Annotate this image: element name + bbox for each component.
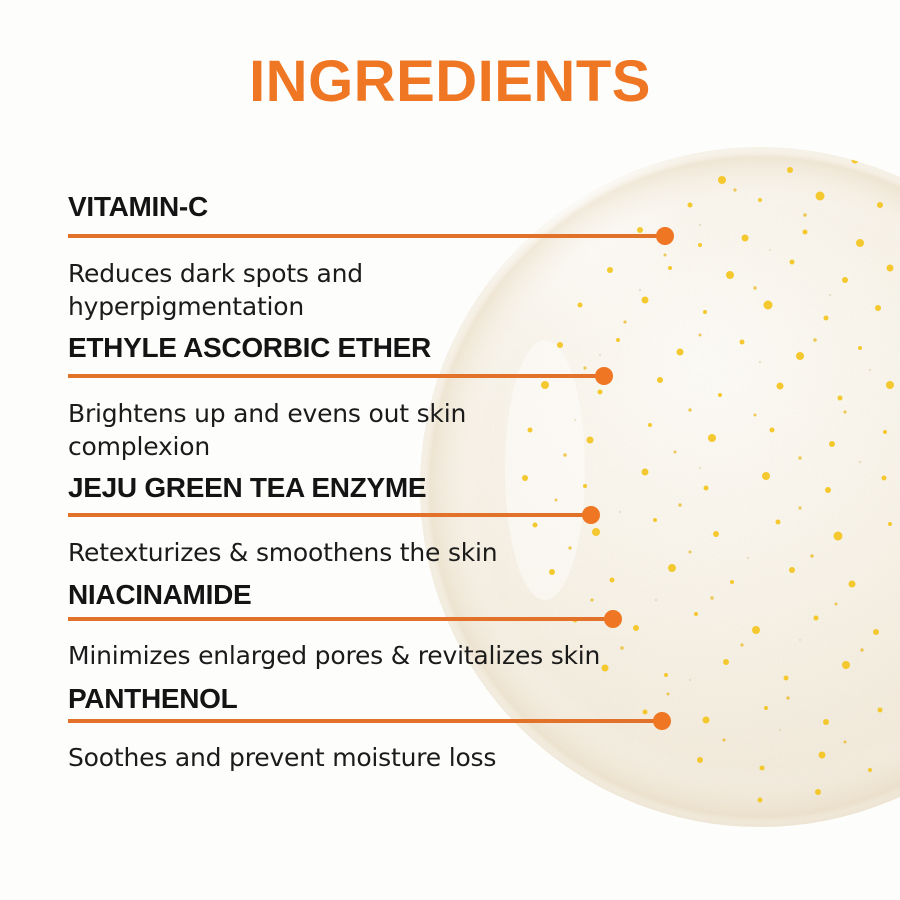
ingredient-description: Brightens up and evens out skin complexi… bbox=[68, 397, 466, 463]
ingredient-description-vitamin-c: Reduces dark spots and hyperpigmentation bbox=[68, 248, 363, 323]
ingredient-description-ethyle-ascorbic-ether: Brightens up and evens out skin complexi… bbox=[68, 388, 466, 463]
connector-line-4 bbox=[68, 617, 613, 621]
ingredient-name: PANTHENOL bbox=[68, 684, 237, 713]
ingredients-infographic: INGREDIENTS VITAMIN-C Reduces dark spots… bbox=[0, 0, 900, 900]
description-line-1: Reduces dark spots and bbox=[68, 259, 363, 288]
connector-dot-1 bbox=[656, 227, 674, 245]
ingredient-name: ETHYLE ASCORBIC ETHER bbox=[68, 333, 431, 362]
ingredient-name: JEJU GREEN TEA ENZYME bbox=[68, 473, 426, 502]
connector-dot-2 bbox=[595, 367, 613, 385]
ingredient-item-panthenol: PANTHENOL bbox=[68, 684, 237, 713]
page-title: INGREDIENTS bbox=[0, 48, 900, 115]
ingredient-description: Soothes and prevent moisture loss bbox=[68, 741, 496, 774]
ingredient-item-niacinamide: NIACINAMIDE bbox=[68, 580, 251, 609]
description-line-1: Brightens up and evens out skin bbox=[68, 399, 466, 428]
connector-dot-3 bbox=[582, 506, 600, 524]
serum-speckles bbox=[522, 157, 894, 803]
connector-line-1 bbox=[68, 234, 665, 238]
connector-dot-4 bbox=[604, 610, 622, 628]
ingredient-description-panthenol: Soothes and prevent moisture loss bbox=[68, 732, 496, 774]
description-line-2: complexion bbox=[68, 430, 466, 463]
ingredient-item-vitamin-c: VITAMIN-C bbox=[68, 192, 208, 221]
connector-line-3 bbox=[68, 513, 591, 517]
description-line-1: Retexturizes & smoothens the skin bbox=[68, 538, 497, 567]
connector-line-5 bbox=[68, 719, 662, 723]
ingredient-description: Reduces dark spots and hyperpigmentation bbox=[68, 257, 363, 323]
ingredient-item-jeju-green-tea-enzyme: JEJU GREEN TEA ENZYME bbox=[68, 473, 426, 502]
description-line-1: Soothes and prevent moisture loss bbox=[68, 743, 496, 772]
ingredient-name: VITAMIN-C bbox=[68, 192, 208, 221]
ingredient-name: NIACINAMIDE bbox=[68, 580, 251, 609]
connector-line-2 bbox=[68, 374, 604, 378]
description-line-1: Minimizes enlarged pores & revitalizes s… bbox=[68, 641, 600, 670]
description-line-2: hyperpigmentation bbox=[68, 290, 363, 323]
ingredient-description-niacinamide: Minimizes enlarged pores & revitalizes s… bbox=[68, 630, 600, 672]
connector-dot-5 bbox=[653, 712, 671, 730]
ingredient-description-jeju-green-tea-enzyme: Retexturizes & smoothens the skin bbox=[68, 527, 497, 569]
ingredient-item-ethyle-ascorbic-ether: ETHYLE ASCORBIC ETHER bbox=[68, 333, 431, 362]
ingredient-description: Retexturizes & smoothens the skin bbox=[68, 536, 497, 569]
ingredient-description: Minimizes enlarged pores & revitalizes s… bbox=[68, 639, 600, 672]
